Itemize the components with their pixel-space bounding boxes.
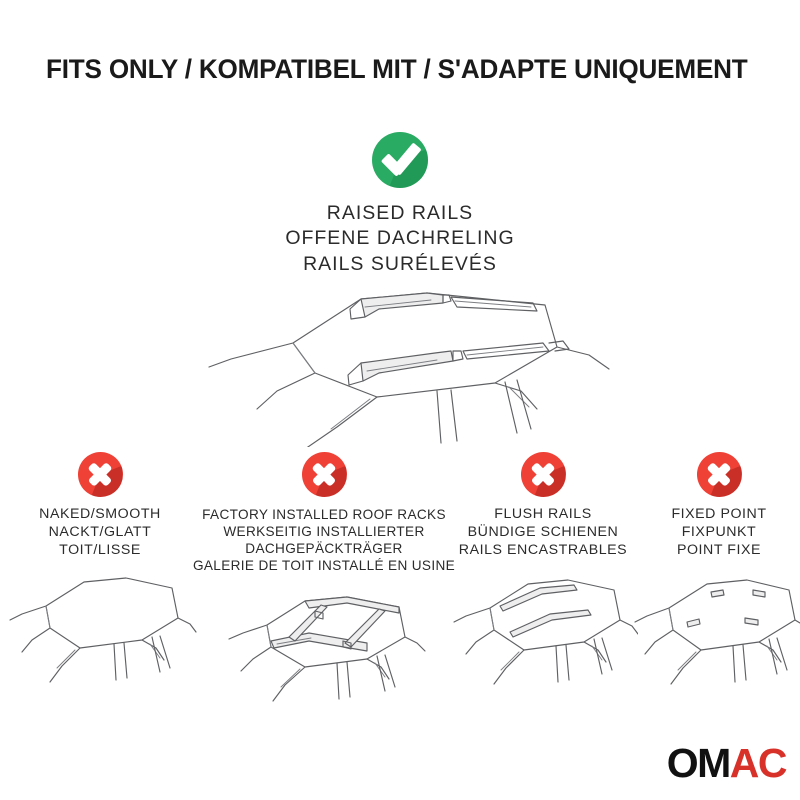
unsupported-section: NAKED/SMOOTH NACKT/GLATT TOIT/LISSE	[0, 452, 800, 709]
unsupported-label-stack: FIXED POINT FIXPUNKT POINT FIXE	[671, 506, 766, 560]
unsupported-item-flush-rails: FLUSH RAILS BÜNDIGE SCHIENEN RAILS ENCAS…	[448, 452, 638, 694]
label-line-1: FACTORY INSTALLED ROOF RACKS	[193, 506, 455, 523]
x-circle-icon	[521, 452, 566, 497]
supported-section: RAISED RAILS OFFENE DACHRELING RAILS SUR…	[0, 132, 800, 447]
logo-text-red: AC	[730, 743, 786, 784]
label-line-2: WERKSEITIG INSTALLIERTER	[193, 523, 455, 540]
supported-label-line-2: OFFENE DACHRELING	[285, 226, 514, 251]
label-line-3: RAILS ENCASTRABLES	[459, 542, 627, 560]
label-line-4: GALERIE DE TOIT INSTALLÉ EN USINE	[193, 557, 455, 574]
car-roof-fixed-point-illustration	[631, 566, 800, 694]
unsupported-label-stack: FACTORY INSTALLED ROOF RACKS WERKSEITIG …	[193, 506, 455, 575]
car-roof-flush-rails-illustration	[448, 566, 638, 694]
unsupported-label-stack: NAKED/SMOOTH NACKT/GLATT TOIT/LISSE	[39, 506, 161, 560]
label-line-1: NAKED/SMOOTH	[39, 506, 161, 524]
label-line-1: FIXED POINT	[671, 506, 766, 524]
label-line-3: TOIT/LISSE	[39, 542, 161, 560]
x-circle-icon	[78, 452, 123, 497]
label-line-1: FLUSH RAILS	[459, 506, 627, 524]
car-roof-naked-smooth-illustration	[2, 566, 198, 694]
unsupported-item-fixed-point: FIXED POINT FIXPUNKT POINT FIXE	[638, 452, 800, 694]
unsupported-label-stack: FLUSH RAILS BÜNDIGE SCHIENEN RAILS ENCAS…	[459, 506, 627, 560]
unsupported-item-factory-roof-racks: FACTORY INSTALLED ROOF RACKS WERKSEITIG …	[200, 452, 448, 709]
page-title: FITS ONLY / KOMPATIBEL MIT / S'ADAPTE UN…	[46, 54, 775, 85]
car-roof-raised-rails-illustration	[165, 287, 635, 447]
supported-label-line-1: RAISED RAILS	[285, 201, 514, 226]
check-circle-icon	[372, 132, 428, 188]
supported-label-stack: RAISED RAILS OFFENE DACHRELING RAILS SUR…	[285, 201, 514, 277]
label-line-2: BÜNDIGE SCHIENEN	[459, 524, 627, 542]
label-line-3: POINT FIXE	[671, 542, 766, 560]
x-circle-icon	[302, 452, 347, 497]
car-roof-factory-roof-racks-illustration	[217, 581, 431, 709]
label-line-2: NACKT/GLATT	[39, 524, 161, 542]
label-line-3: DACHGEPÄCKTRÄGER	[193, 540, 455, 557]
supported-label-line-3: RAILS SURÉLEVÉS	[285, 252, 514, 277]
omac-logo: OMAC	[667, 743, 786, 784]
label-line-2: FIXPUNKT	[671, 524, 766, 542]
unsupported-item-naked-smooth: NAKED/SMOOTH NACKT/GLATT TOIT/LISSE	[0, 452, 200, 694]
x-circle-icon	[697, 452, 742, 497]
logo-text-dark: OM	[667, 743, 730, 784]
